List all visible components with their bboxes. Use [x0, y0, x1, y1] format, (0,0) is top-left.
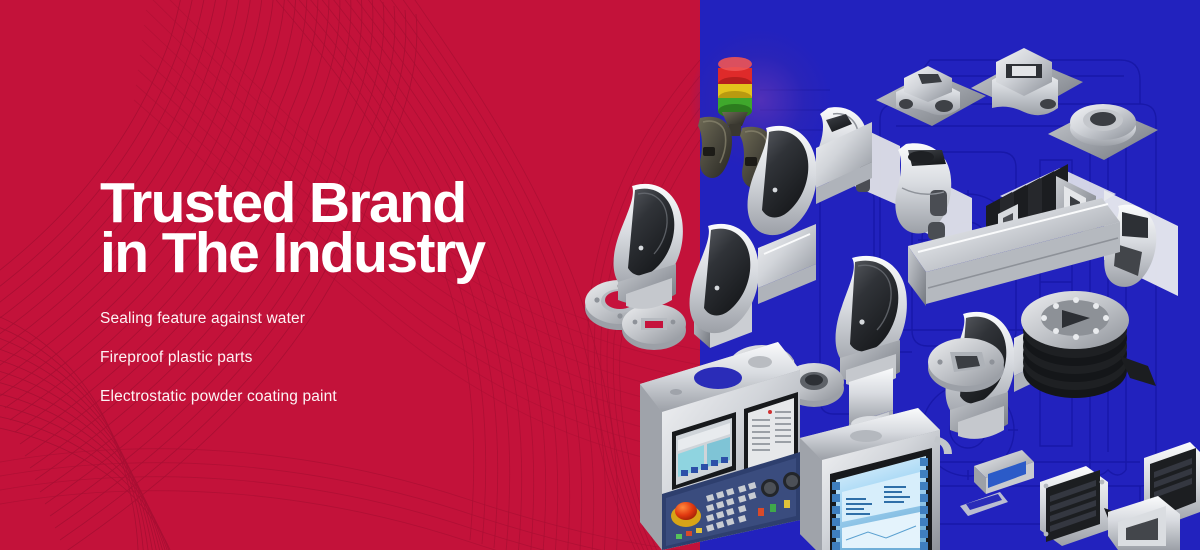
blue-background-panel: [700, 0, 1200, 550]
list-item: Electrostatic powder coating paint: [100, 388, 640, 405]
list-item: Sealing feature against water: [100, 310, 640, 327]
blueprint-wireframe: [700, 0, 1200, 550]
page-title: Trusted Brand in The Industry: [100, 178, 640, 278]
list-item: Fireproof plastic parts: [100, 349, 640, 366]
hero-copy-block: Trusted Brand in The Industry Sealing fe…: [100, 178, 640, 405]
hero-banner: Trusted Brand in The Industry Sealing fe…: [0, 0, 1200, 550]
feature-list: Sealing feature against water Fireproof …: [100, 310, 640, 405]
